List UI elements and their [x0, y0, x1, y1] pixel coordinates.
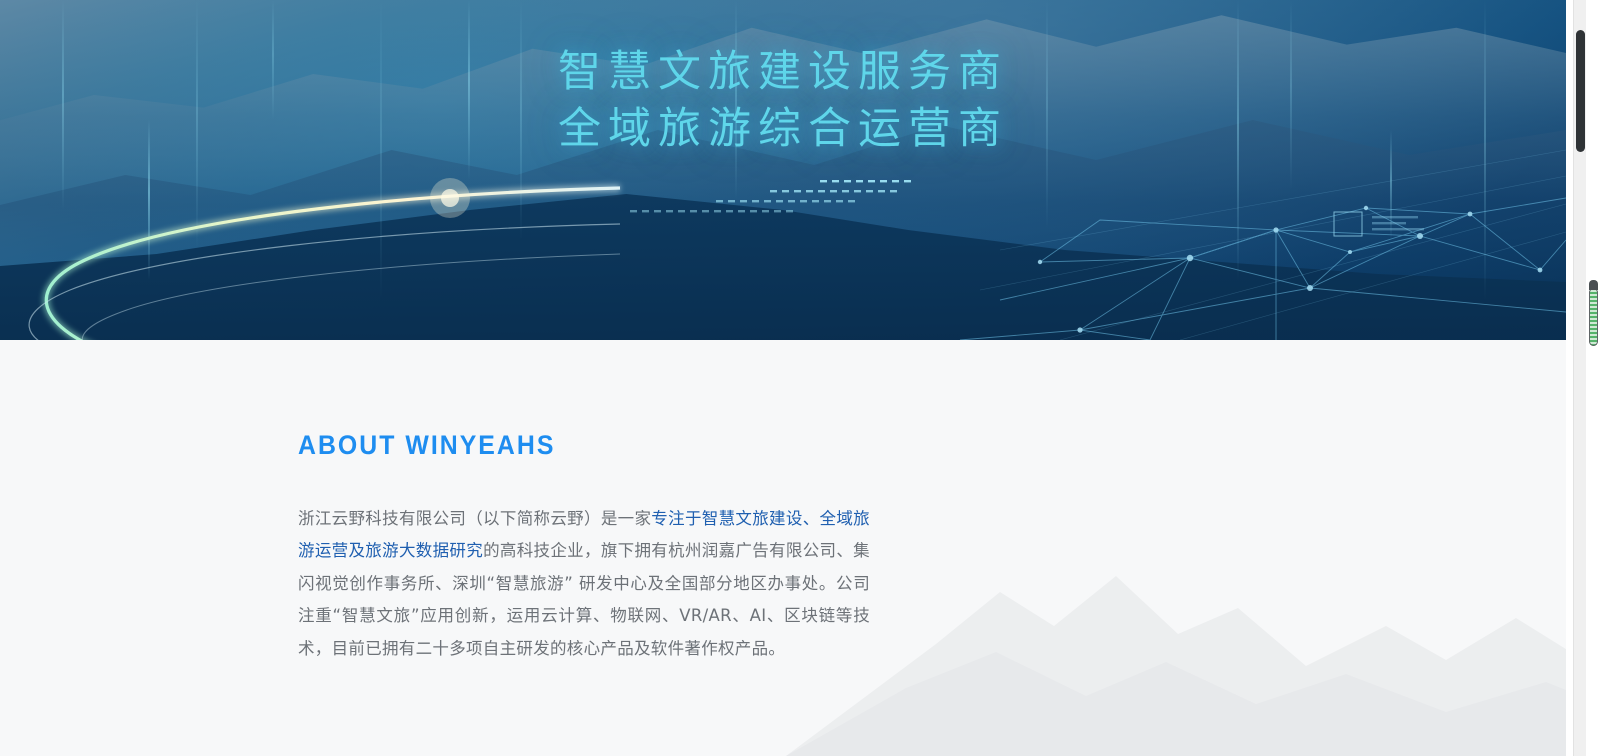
about-heading: ABOUT WINYEAHS — [298, 430, 1384, 461]
about-content: ABOUT WINYEAHS 浙江云野科技有限公司（以下简称云野）是一家专注于智… — [298, 430, 1478, 665]
about-paragraph-part1: 浙江云野科技有限公司（以下简称云野）是一家 — [298, 509, 651, 528]
vertical-scrollbar-thumb[interactable] — [1576, 30, 1585, 152]
page-container: 智慧文旅建设服务商 全域旅游综合运营商 — [0, 0, 1566, 756]
about-paragraph: 浙江云野科技有限公司（以下简称云野）是一家专注于智慧文旅建设、全域旅游运营及旅游… — [298, 503, 870, 665]
vertical-scrollbar-track[interactable] — [1573, 0, 1586, 756]
hero-banner: 智慧文旅建设服务商 全域旅游综合运营商 — [0, 0, 1566, 340]
about-section: ABOUT WINYEAHS 浙江云野科技有限公司（以下简称云野）是一家专注于智… — [0, 340, 1566, 756]
hero-headline: 智慧文旅建设服务商 全域旅游综合运营商 — [0, 44, 1566, 158]
hero-light-trail-road-icon — [0, 128, 620, 340]
hero-dot-decoration-icon — [620, 176, 950, 224]
scroll-position-indicator-track[interactable] — [1586, 0, 1600, 756]
scroll-position-indicator-thumb[interactable] — [1589, 288, 1598, 346]
about-paragraph-highlight-1: 专注于智慧文旅建 — [651, 509, 786, 528]
